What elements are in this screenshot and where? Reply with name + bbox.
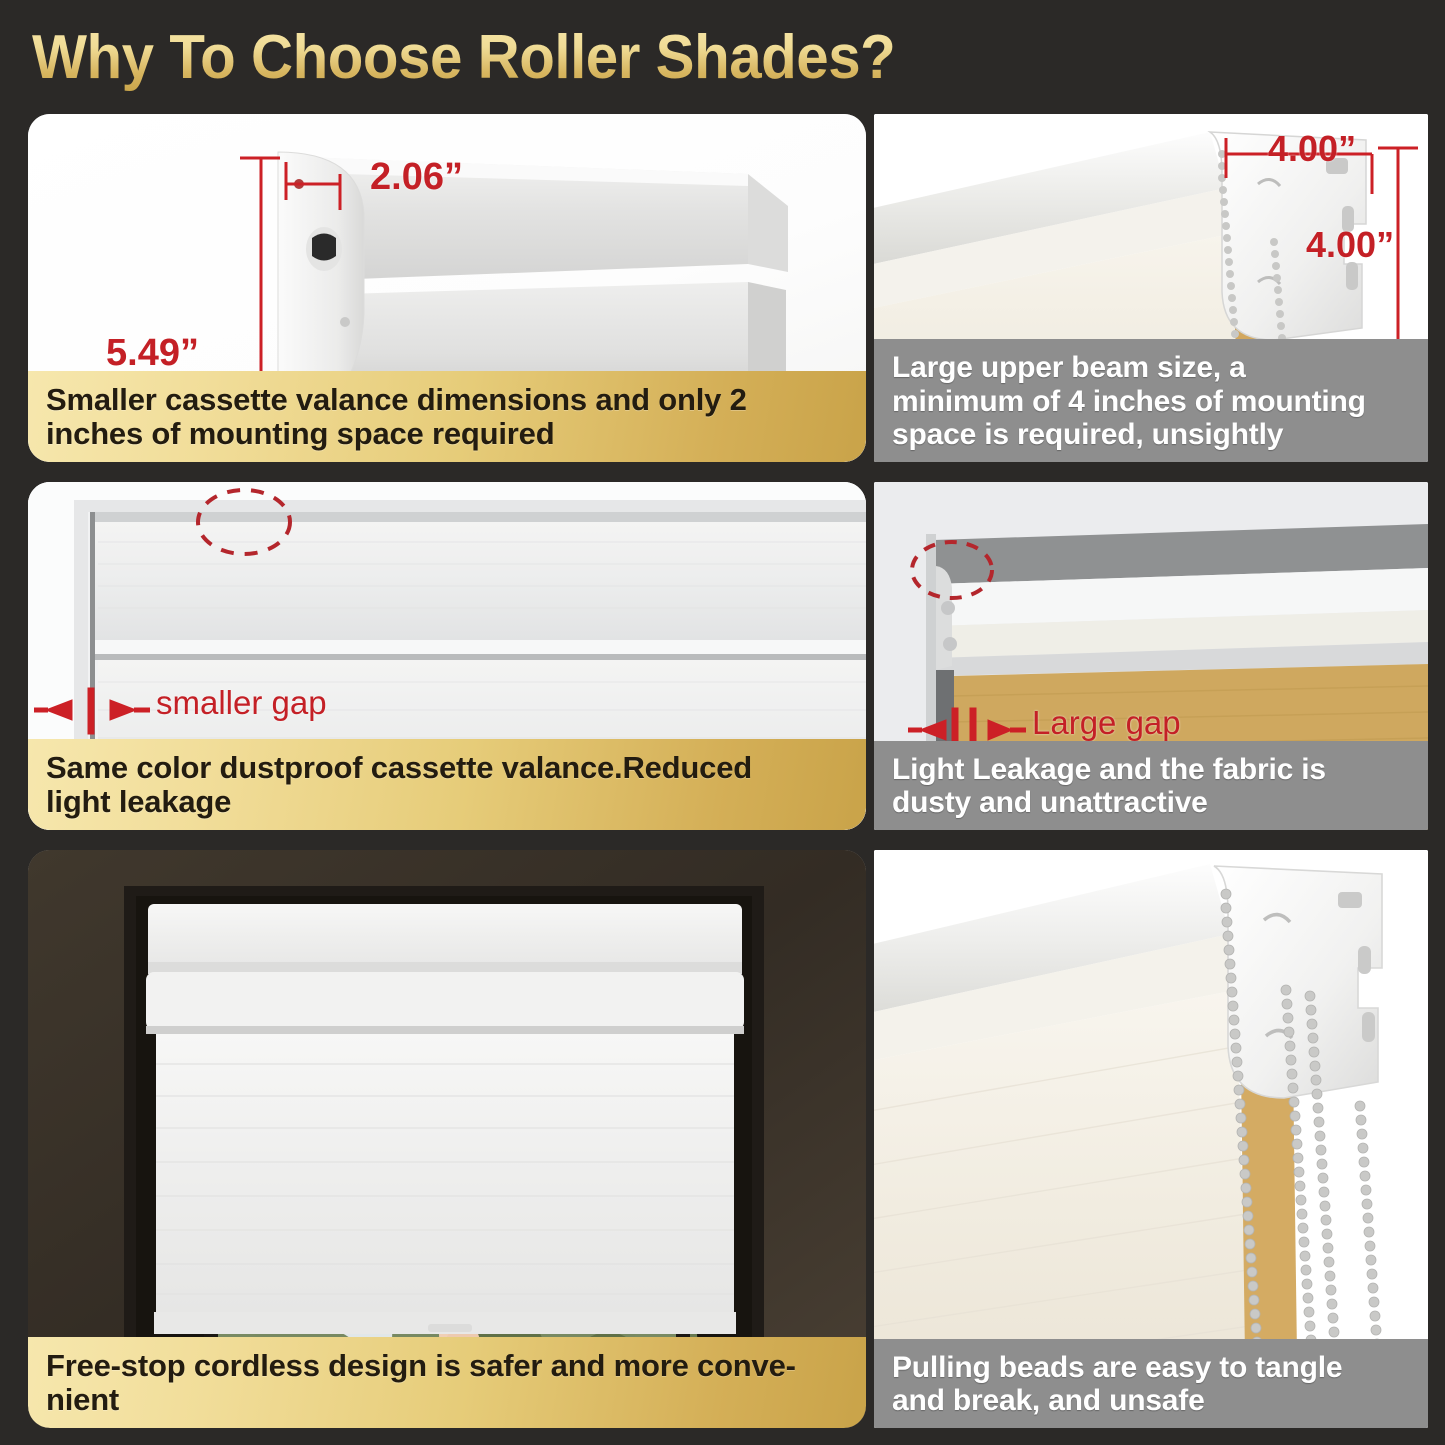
page-title: Why To Choose Roller Shades? — [32, 22, 895, 93]
caption-line: Large upper beam size, a — [892, 351, 1412, 385]
beam-height-dimension-label: 4.00” — [1306, 224, 1394, 266]
panel-smaller-gap: smaller gap Same color dustproof cassett… — [28, 482, 866, 830]
caption-line: Smaller cassette valance dimensions and … — [46, 383, 850, 418]
panel-cassette-dimensions: 2.06” 5.49” Smaller cassette valance dim… — [28, 114, 866, 462]
large-gap-label: Large gap — [1032, 704, 1181, 742]
caption-pulling-beads: Pulling beads are easy to tangle and bre… — [874, 1339, 1428, 1428]
smaller-gap-label: smaller gap — [156, 684, 327, 722]
caption-cordless-design: Free-stop cordless design is safer and m… — [28, 1337, 866, 1428]
caption-light-leakage: Light Leakage and the fabric is dusty an… — [874, 741, 1428, 830]
panel-light-leakage: Large gap Light Leakage and the fabric i… — [874, 482, 1428, 830]
caption-line: Light Leakage and the fabric is — [892, 753, 1412, 787]
caption-line: inches of mounting space required — [46, 417, 850, 452]
panel-large-upper-beam: 4.00” 4.00” Large upper beam size, a min… — [874, 114, 1428, 462]
beam-width-dimension-label: 4.00” — [1268, 128, 1356, 170]
caption-line: dusty and unattractive — [892, 786, 1412, 820]
caption-line: nient — [46, 1383, 850, 1418]
caption-line: Free-stop cordless design is safer and m… — [46, 1349, 850, 1384]
infographic-root: Why To Choose Roller Shades? — [0, 0, 1445, 1445]
caption-line: space is required, unsightly — [892, 418, 1412, 452]
height-dimension-label: 5.49” — [106, 332, 199, 375]
panel-pulling-beads: Pulling beads are easy to tangle and bre… — [874, 850, 1428, 1428]
caption-line: Same color dustproof cassette valance.Re… — [46, 751, 850, 786]
caption-line: light leakage — [46, 785, 850, 820]
width-dimension-label: 2.06” — [370, 156, 463, 199]
caption-line: and break, and unsafe — [892, 1384, 1412, 1418]
caption-large-upper-beam: Large upper beam size, a minimum of 4 in… — [874, 339, 1428, 462]
caption-cassette-dimensions: Smaller cassette valance dimensions and … — [28, 371, 866, 462]
panel-cordless-design: Free-stop cordless design is safer and m… — [28, 850, 866, 1428]
caption-smaller-gap: Same color dustproof cassette valance.Re… — [28, 739, 866, 830]
caption-line: minimum of 4 inches of mounting — [892, 385, 1412, 419]
caption-line: Pulling beads are easy to tangle — [892, 1351, 1412, 1385]
